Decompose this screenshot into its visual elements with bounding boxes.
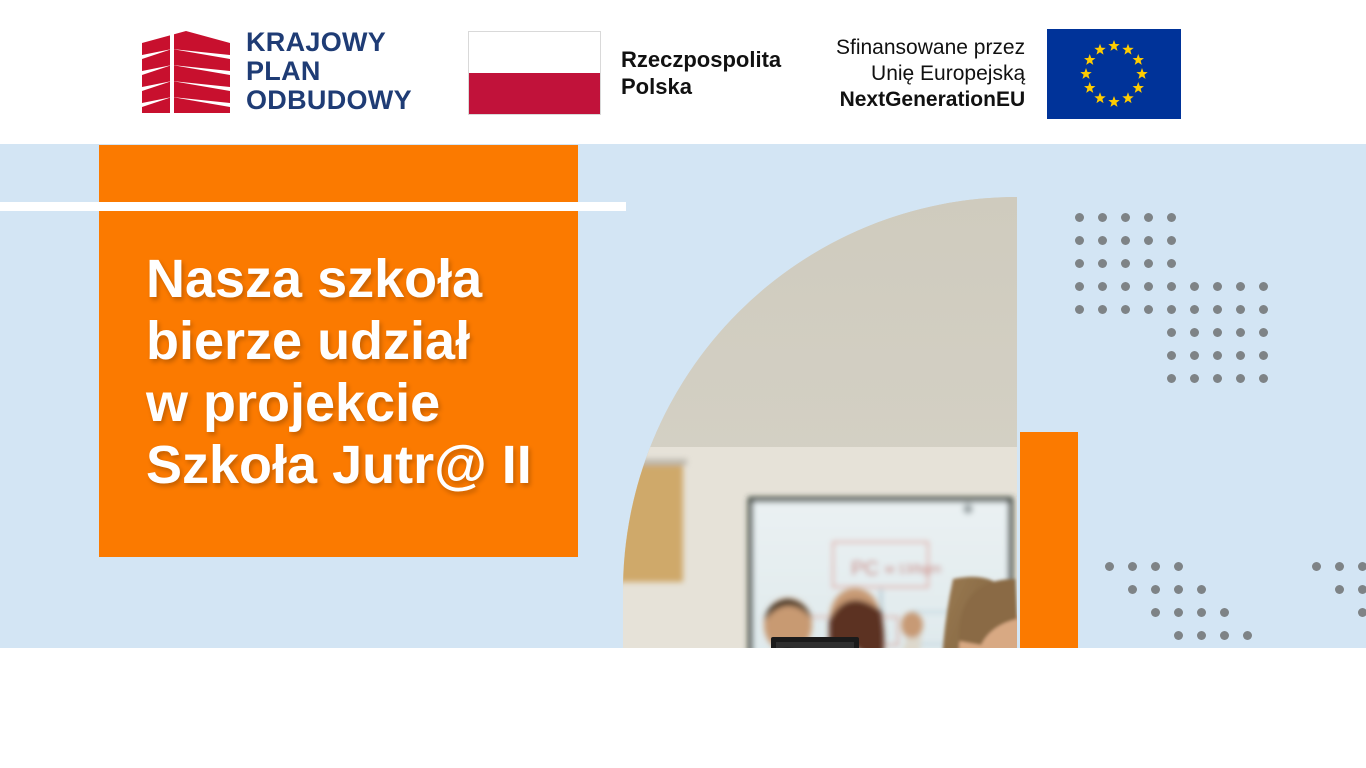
pattern-dot	[1174, 562, 1183, 571]
pattern-dot	[1213, 282, 1222, 291]
pattern-dot	[1128, 585, 1137, 594]
pattern-dot	[1243, 631, 1252, 640]
pattern-dot	[1151, 608, 1160, 617]
pattern-dot	[1167, 351, 1176, 360]
rp-line-1: Rzeczpospolita	[621, 46, 781, 73]
pattern-dot	[1167, 213, 1176, 222]
pattern-dot	[1151, 562, 1160, 571]
pattern-dot	[1144, 305, 1153, 314]
kpo-building-mark-icon	[142, 31, 230, 113]
rzeczpospolita-polska-logo: Rzeczpospolita Polska	[468, 31, 781, 115]
poster-canvas: KRAJOWY PLAN ODBUDOWY Rzeczpospolita Pol…	[0, 0, 1366, 768]
pattern-dot	[1190, 374, 1199, 383]
eu-line-3: NextGenerationEU	[836, 87, 1025, 113]
pattern-dot	[1312, 562, 1321, 571]
pattern-dot	[1220, 631, 1229, 640]
pattern-dot	[1197, 608, 1206, 617]
pattern-dot	[1259, 374, 1268, 383]
pattern-dot	[1236, 374, 1245, 383]
pattern-dot	[1098, 236, 1107, 245]
kpo-logo-text: KRAJOWY PLAN ODBUDOWY	[246, 28, 412, 115]
rp-line-2: Polska	[621, 73, 781, 100]
pattern-dot	[1121, 282, 1130, 291]
pattern-dot	[1144, 259, 1153, 268]
pattern-dot	[1144, 236, 1153, 245]
pattern-dot	[1121, 259, 1130, 268]
pattern-dot	[1098, 259, 1107, 268]
pattern-dot	[1075, 259, 1084, 268]
pattern-dot	[1167, 328, 1176, 337]
pattern-dot	[1105, 562, 1114, 571]
kpo-line-2: PLAN	[246, 57, 412, 86]
pattern-dot	[1075, 282, 1084, 291]
pattern-dot	[1358, 562, 1366, 571]
pattern-dot	[1259, 305, 1268, 314]
pattern-dot	[1167, 282, 1176, 291]
pattern-dot	[1259, 328, 1268, 337]
pattern-dot	[1335, 585, 1344, 594]
pattern-dot	[1197, 631, 1206, 640]
pattern-dot	[1098, 282, 1107, 291]
partners-footer: PROJEKT Szkoła Jutr @ ) LIDER { yfrowy }	[0, 648, 1366, 768]
funding-header: KRAJOWY PLAN ODBUDOWY Rzeczpospolita Pol…	[0, 0, 1366, 144]
eu-logo-text: Sfinansowane przez Unię Europejską NextG…	[836, 35, 1025, 113]
pattern-dot	[1236, 305, 1245, 314]
pattern-dot	[1121, 305, 1130, 314]
pattern-dot	[1358, 608, 1366, 617]
pattern-dot	[1213, 328, 1222, 337]
pattern-dot	[1335, 562, 1344, 571]
pattern-dot	[1190, 328, 1199, 337]
svg-text:PC: PC	[851, 558, 879, 580]
pattern-dot	[1213, 305, 1222, 314]
pattern-dot	[1151, 585, 1160, 594]
pattern-dot	[1144, 213, 1153, 222]
pattern-dot	[1259, 351, 1268, 360]
pattern-dot	[1220, 608, 1229, 617]
pattern-dot	[1098, 305, 1107, 314]
pattern-dot	[1197, 585, 1206, 594]
pattern-dot	[1075, 236, 1084, 245]
kpo-line-3: ODBUDOWY	[246, 86, 412, 115]
eu-line-1: Sfinansowane przez	[836, 35, 1025, 61]
pattern-dot	[1167, 259, 1176, 268]
pattern-dot	[1128, 562, 1137, 571]
pattern-dot	[1174, 608, 1183, 617]
pattern-dot	[1213, 351, 1222, 360]
pattern-dot	[1259, 282, 1268, 291]
pattern-dot	[1213, 374, 1222, 383]
pattern-dot	[1236, 282, 1245, 291]
pattern-dot	[1190, 282, 1199, 291]
rp-logo-text: Rzeczpospolita Polska	[621, 46, 781, 100]
pattern-dot	[1075, 305, 1084, 314]
pattern-dot	[1174, 631, 1183, 640]
kpo-logo: KRAJOWY PLAN ODBUDOWY	[142, 28, 412, 115]
svg-text:w 13/bgm: w 13/bgm	[884, 561, 941, 576]
european-union-funding-logo: Sfinansowane przez Unię Europejską NextG…	[836, 29, 1181, 119]
pattern-dot	[1121, 213, 1130, 222]
pattern-dot	[1075, 213, 1084, 222]
white-divider-rule	[0, 202, 626, 211]
pattern-dot	[1144, 282, 1153, 291]
pattern-dot	[1167, 374, 1176, 383]
pattern-dot	[1190, 351, 1199, 360]
pattern-dot	[1236, 351, 1245, 360]
pattern-dot	[1236, 328, 1245, 337]
eu-flag-icon	[1047, 29, 1181, 119]
pattern-dot	[1098, 213, 1107, 222]
kpo-line-1: KRAJOWY	[246, 28, 412, 57]
poland-flag-icon	[468, 31, 601, 115]
pattern-dot	[1121, 236, 1130, 245]
page-title: Nasza szkoła bierze udział w projekcie S…	[146, 248, 566, 496]
pattern-dot	[1190, 305, 1199, 314]
pattern-dot	[1174, 585, 1183, 594]
pattern-dot	[1358, 585, 1366, 594]
pattern-dot	[1167, 305, 1176, 314]
pattern-dot	[1167, 236, 1176, 245]
eu-line-2: Unię Europejską	[836, 61, 1025, 87]
